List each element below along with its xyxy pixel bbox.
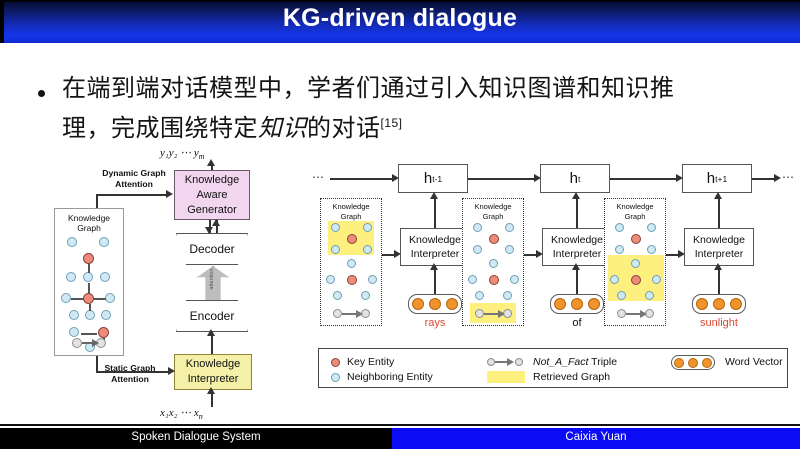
kg-dashbox-1: KnowledgeGraph	[462, 198, 524, 326]
paragraph-line-1: 在端到端对话模型中，学者们通过引入知识图谱和知识推	[62, 76, 675, 102]
kg-node-gray	[475, 309, 484, 318]
hidden-state-box-1: ht	[540, 164, 610, 193]
kg-node-nb	[645, 291, 654, 300]
knowledge-interpreter-box-0: Knowledge Interpreter	[400, 228, 470, 266]
citation-ref: [15]	[381, 116, 403, 130]
kg-edge	[94, 298, 106, 300]
static-attn-hline	[96, 371, 168, 373]
kg-edge	[88, 283, 90, 294]
kg-node-nb	[333, 291, 342, 300]
kag-line-1: Knowledge	[185, 173, 239, 188]
word-label-0: rays	[408, 317, 462, 329]
word-vector-cell	[554, 298, 566, 310]
word-vector-0	[408, 294, 462, 314]
kg-node-nb	[610, 275, 619, 284]
knowledge-aware-generator-box: Knowledge Aware Generator	[174, 170, 250, 220]
word-vector-cell	[429, 298, 441, 310]
kg-node-nb	[61, 293, 71, 303]
legend-word-vector-icon	[671, 355, 715, 370]
kg-gray-arrowhead	[498, 310, 505, 318]
word-vector-cell	[571, 298, 583, 310]
kg-node-nb	[67, 237, 77, 247]
dynamic-graph-attention-label: Dynamic Graph Attention	[88, 168, 180, 189]
output-sequence-label: y₁y₂ ⋯ ym	[160, 146, 205, 161]
word-vector-cell	[702, 358, 712, 368]
input-sequence-label: x₁x₂ ⋯ xn	[160, 406, 203, 421]
interp-to-hidden-arrow-2	[714, 192, 722, 199]
hidden-state-label-0: h	[424, 170, 432, 187]
wv-to-interp-line-1	[576, 266, 578, 294]
kg-node-nb	[105, 293, 115, 303]
footer-right-text: Caixia Yuan	[392, 431, 800, 443]
kg-node-nb	[99, 237, 109, 247]
word-vector-cell	[696, 298, 708, 310]
legend-triple-node-icon	[487, 358, 495, 366]
slide-footer: Spoken Dialogue System Caixia Yuan	[0, 428, 800, 449]
encoder-label: Encoder	[176, 309, 248, 323]
kg-dashbox-title-1: KnowledgeGraph	[463, 202, 523, 222]
kg-panel-left: KnowledgeGraph	[54, 208, 124, 356]
bullet-marker-icon	[38, 90, 45, 97]
kg-node-key	[83, 253, 94, 264]
slide-title-bar: KG-driven dialogue	[0, 0, 800, 43]
word-vector-cell	[713, 298, 725, 310]
kg-node-nb	[510, 275, 519, 284]
chain-line-0	[330, 178, 394, 180]
kg-node-nb	[326, 275, 335, 284]
footer-rule	[0, 424, 800, 426]
decoder-arrow-up	[212, 219, 220, 226]
word-vector-cell	[688, 358, 698, 368]
kg-node-nb	[615, 223, 624, 232]
legend-not-a-fact-label: Not_A_Fact Triple	[533, 356, 617, 368]
kg-node-nb	[631, 259, 640, 268]
kg-node-nb	[647, 223, 656, 232]
kg-node-nb	[473, 245, 482, 254]
kg-dashbox-0: KnowledgeGraph	[320, 198, 382, 326]
kint-line-2: Interpreter	[188, 372, 239, 387]
kg-dashbox-title-2: KnowledgeGraph	[605, 202, 665, 222]
hidden-state-box-2: ht+1	[682, 164, 752, 193]
kg-edge	[71, 298, 84, 300]
kg-node-nb	[489, 259, 498, 268]
hidden-state-box-0: ht-1	[398, 164, 468, 193]
kg-node-nb	[66, 272, 76, 282]
kg-node-nb	[363, 223, 372, 232]
kg-node-nb	[475, 291, 484, 300]
kg-node-nb	[85, 310, 95, 320]
kg-gray-arrowhead	[640, 310, 647, 318]
wv-to-interp-line-0	[434, 266, 436, 294]
output-arrow-head	[207, 159, 215, 166]
kg-node-gray	[617, 309, 626, 318]
kg-gray-arrowhead	[92, 339, 99, 347]
kg-node-nb	[505, 223, 514, 232]
kg-node-nb	[503, 291, 512, 300]
static-attn-vline	[96, 356, 98, 372]
decoder-label: Decoder	[176, 242, 248, 256]
kg-panel-title: KnowledgeGraph	[55, 213, 123, 233]
word-vector-cell	[674, 358, 684, 368]
kg-node-nb	[101, 310, 111, 320]
word-label-2: sunlight	[684, 317, 754, 329]
ellipsis-left: ⋯	[312, 170, 325, 184]
kg-node-nb	[361, 291, 370, 300]
legend-retrieved-graph-label: Retrieved Graph	[533, 371, 610, 383]
bullet-paragraph: 在端到端对话模型中，学者们通过引入知识图谱和知识推 理，完成围绕特定知识的对话[…	[34, 72, 774, 146]
ellipsis-right: ⋯	[782, 170, 795, 184]
title-top-border	[0, 0, 800, 2]
kag-line-2: Aware	[197, 188, 228, 203]
footer-left-band: Spoken Dialogue System	[0, 428, 392, 449]
legend-neighboring-entity-label: Neighboring Entity	[347, 371, 433, 383]
kag-line-3: Generator	[187, 203, 237, 218]
interp-to-hidden-line-0	[434, 196, 436, 228]
interp-to-hidden-line-1	[576, 196, 578, 228]
legend-key-entity-label: Key Entity	[347, 356, 394, 368]
encoder-interp-arrow	[207, 329, 215, 336]
kg-node-nb	[100, 272, 110, 282]
word-vector-1	[550, 294, 604, 314]
knowledge-interpreter-box-left: Knowledge Interpreter	[174, 354, 252, 390]
static-graph-attention-label: Static Graph Attention	[85, 363, 175, 384]
kg-node-gray	[72, 338, 82, 348]
kg-node-nb	[83, 272, 93, 282]
kg-node-key	[347, 275, 357, 285]
word-vector-cell	[412, 298, 424, 310]
attention-arrow-label: attention	[209, 265, 215, 293]
legend-neighboring-entity-icon	[331, 373, 340, 382]
hidden-state-label-1: h	[570, 170, 578, 187]
kg-node-key	[347, 234, 357, 244]
legend-not-a-fact-rest: Triple	[588, 356, 617, 368]
kint-line-1: Knowledge	[186, 357, 240, 372]
word-vector-cell	[730, 298, 742, 310]
word-vector-cell	[446, 298, 458, 310]
chain-arrow-3	[774, 174, 781, 182]
wv-to-interp-arrow-1	[572, 263, 580, 270]
kg-node-key	[98, 327, 109, 338]
decoder-arrow-down	[205, 227, 213, 234]
wv-to-interp-line-2	[718, 266, 720, 294]
interp-to-hidden-arrow-1	[572, 192, 580, 199]
legend-triple-arrowhead	[507, 358, 514, 366]
kg-dashbox-title-0: KnowledgeGraph	[321, 202, 381, 222]
kg-node-nb	[652, 275, 661, 284]
kg-node-nb	[69, 310, 79, 320]
kg-node-nb	[473, 223, 482, 232]
figure-right-unrolled-rnn: ⋯ ht-1 KnowledgeGraph	[312, 162, 794, 410]
knowledge-interpreter-box-1: Knowledge Interpreter	[542, 228, 612, 266]
kg-node-nb	[363, 245, 372, 254]
word-label-1: of	[550, 317, 604, 329]
interp-to-hidden-arrow-0	[430, 192, 438, 199]
legend-key-entity-icon	[331, 358, 340, 367]
dynamic-attn-hline	[96, 194, 166, 196]
kg-node-nb	[468, 275, 477, 284]
kg-node-nb	[368, 275, 377, 284]
bullet-text-block: 在端到端对话模型中，学者们通过引入知识图谱和知识推 理，完成围绕特定知识的对话[…	[62, 72, 774, 146]
legend-retrieved-graph-swatch	[487, 371, 525, 383]
kg-node-nb	[331, 245, 340, 254]
knowledge-interpreter-box-2: Knowledge Interpreter	[684, 228, 754, 266]
chain-line-2	[610, 178, 678, 180]
kg-gray-arrowhead	[356, 310, 363, 318]
kg-dashbox-2: KnowledgeGraph	[604, 198, 666, 326]
kg-node-key	[631, 275, 641, 285]
word-vector-2	[692, 294, 746, 314]
kg-node-nb	[505, 245, 514, 254]
kg-node-nb	[647, 245, 656, 254]
hidden-state-label-2: h	[707, 170, 715, 187]
legend-word-vector-label: Word Vector	[725, 356, 783, 368]
slide-root: KG-driven dialogue 在端到端对话模型中，学者们通过引入知识图谱…	[0, 0, 800, 449]
wv-to-interp-arrow-2	[714, 263, 722, 270]
static-attn-arrowhead	[168, 367, 175, 375]
hidden-state-sub-1: t	[578, 174, 580, 184]
kg-node-key	[83, 293, 94, 304]
paragraph-line-2b: 的对话	[307, 116, 381, 142]
chain-line-1	[468, 178, 536, 180]
kg-node-nb	[617, 291, 626, 300]
word-vector-cell	[588, 298, 600, 310]
footer-left-text: Spoken Dialogue System	[0, 431, 392, 443]
page-title: KG-driven dialogue	[0, 4, 800, 33]
footer-right-band: Caixia Yuan	[392, 428, 800, 449]
kg-node-nb	[331, 223, 340, 232]
hidden-state-sub-0: t-1	[432, 174, 442, 184]
legend-triple-node-icon	[515, 358, 523, 366]
paragraph-emphasis: 知识	[258, 116, 307, 142]
kg-node-nb	[615, 245, 624, 254]
figure-left-kag-architecture: y₁y₂ ⋯ ym Knowledge Aware Generator Dyna…	[30, 150, 300, 422]
wv-to-interp-arrow-0	[430, 263, 438, 270]
dynamic-attn-arrowhead	[166, 190, 173, 198]
hidden-state-sub-2: t+1	[715, 174, 727, 184]
kg-node-nb	[69, 327, 79, 337]
kg-node-nb	[347, 259, 356, 268]
kg-node-key	[489, 275, 499, 285]
interp-to-hidden-line-2	[718, 196, 720, 228]
kg-node-key	[489, 234, 499, 244]
input-arrow-head	[207, 387, 215, 394]
legend-not-a-fact-italic: Not_A_Fact	[533, 356, 588, 368]
kg-edge	[88, 264, 90, 273]
kg-node-gray	[333, 309, 342, 318]
kg-node-key	[631, 234, 641, 244]
kg-edge	[81, 333, 97, 335]
figure-legend: Key Entity Neighboring Entity Not_A_Fact…	[318, 348, 788, 388]
paragraph-line-2a: 理，完成围绕特定	[62, 116, 258, 142]
kg-edge	[89, 304, 91, 311]
